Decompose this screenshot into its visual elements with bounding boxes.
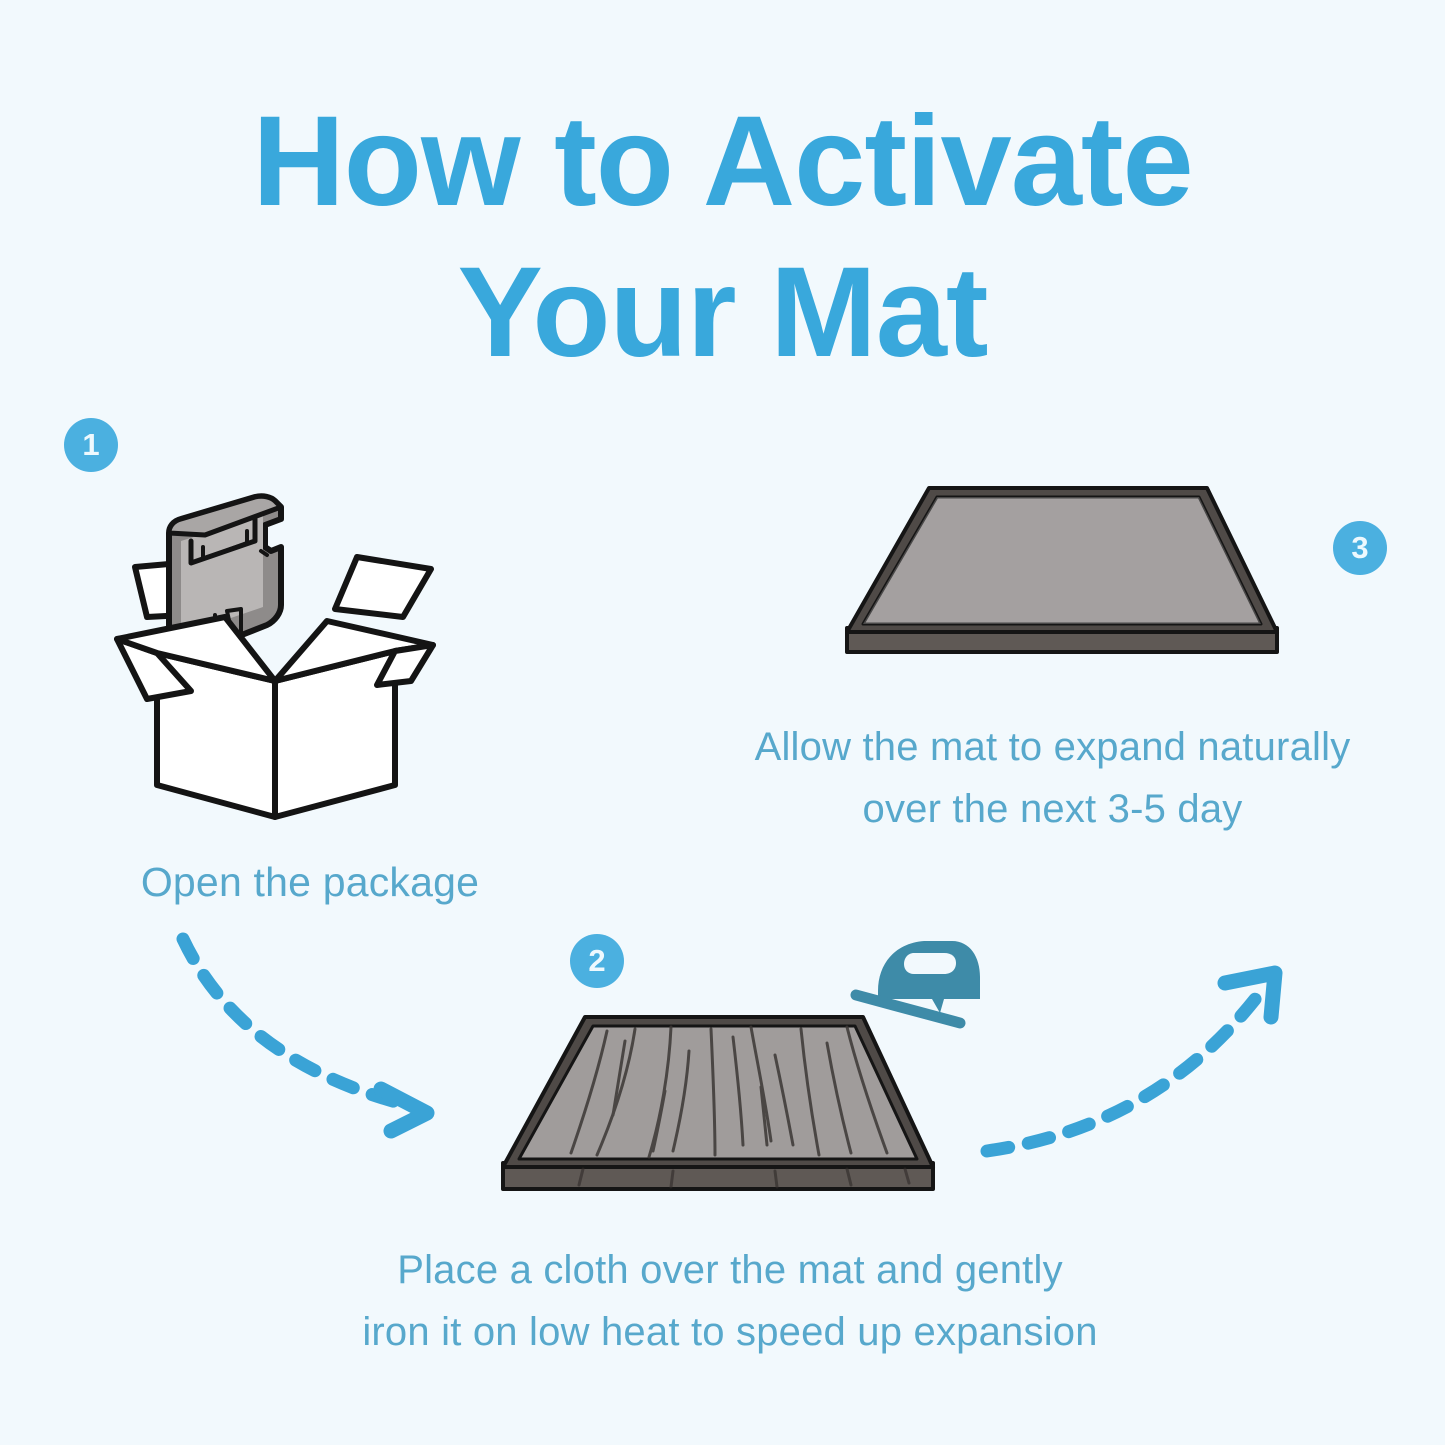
open-package-illustration — [95, 485, 455, 825]
infographic-canvas: How to Activate Your Mat 1 — [0, 0, 1445, 1445]
step-2-caption: Place a cloth over the mat and gently ir… — [200, 1239, 1260, 1363]
cloth-covered-mat-illustration — [475, 995, 975, 1215]
page-title: How to Activate Your Mat — [0, 86, 1445, 388]
dashed-curved-arrow-down-right-icon — [165, 925, 495, 1145]
step-3-caption: Allow the mat to expand naturally over t… — [660, 716, 1445, 840]
dashed-curved-arrow-up-right-icon — [975, 955, 1305, 1170]
step-badge-1: 1 — [64, 418, 118, 472]
step-badge-3: 3 — [1333, 521, 1387, 575]
step-1-caption: Open the package — [30, 851, 590, 915]
expanded-mat-illustration — [825, 460, 1325, 680]
step-badge-2: 2 — [570, 934, 624, 988]
